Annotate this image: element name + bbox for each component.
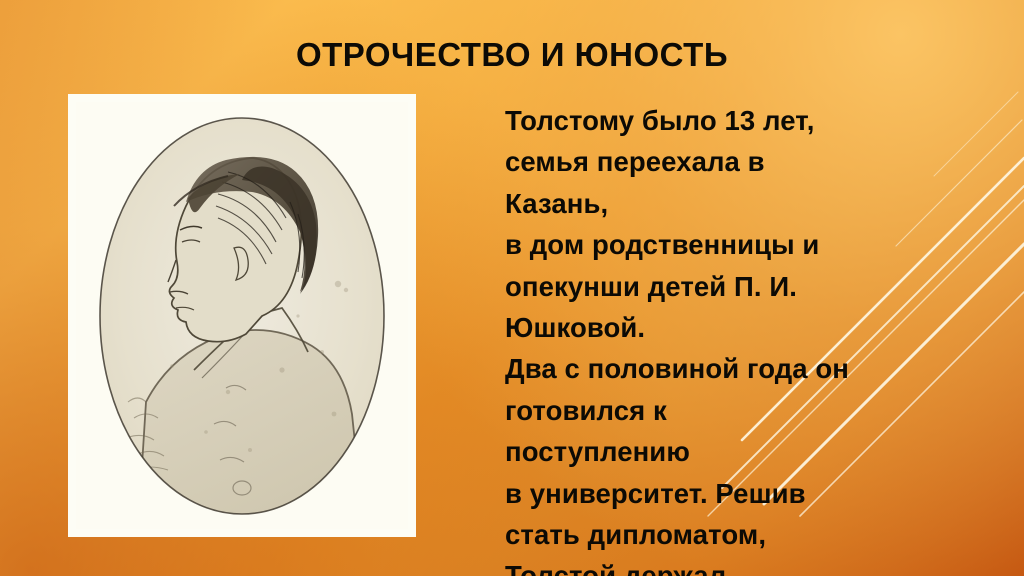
body-line: стать дипломатом, [505,514,1017,555]
presentation-slide: ОТРОЧЕСТВО И ЮНОСТЬ [0,0,1024,576]
body-line: семья переехала в [505,141,1017,182]
body-line: в университет. Решив [505,473,1017,514]
body-line: Толстому было 13 лет, [505,100,1017,141]
slide-title: ОТРОЧЕСТВО И ЮНОСТЬ [0,36,1024,74]
body-line: готовился к [505,390,1017,431]
body-line: в дом родственницы и [505,224,1017,265]
portrait-image [76,102,408,529]
portrait-sketch-svg [76,102,408,529]
body-line: Казань, [505,183,1017,224]
body-line: Юшковой. [505,307,1017,348]
body-line: опекунши детей П. И. [505,266,1017,307]
body-text-block: Толстому было 13 лет, семья переехала в … [505,100,1017,576]
body-line: Толстой держал [505,555,1017,576]
body-line: Два с половиной года он [505,348,1017,389]
portrait-frame [68,94,416,537]
body-line: поступлению [505,431,1017,472]
